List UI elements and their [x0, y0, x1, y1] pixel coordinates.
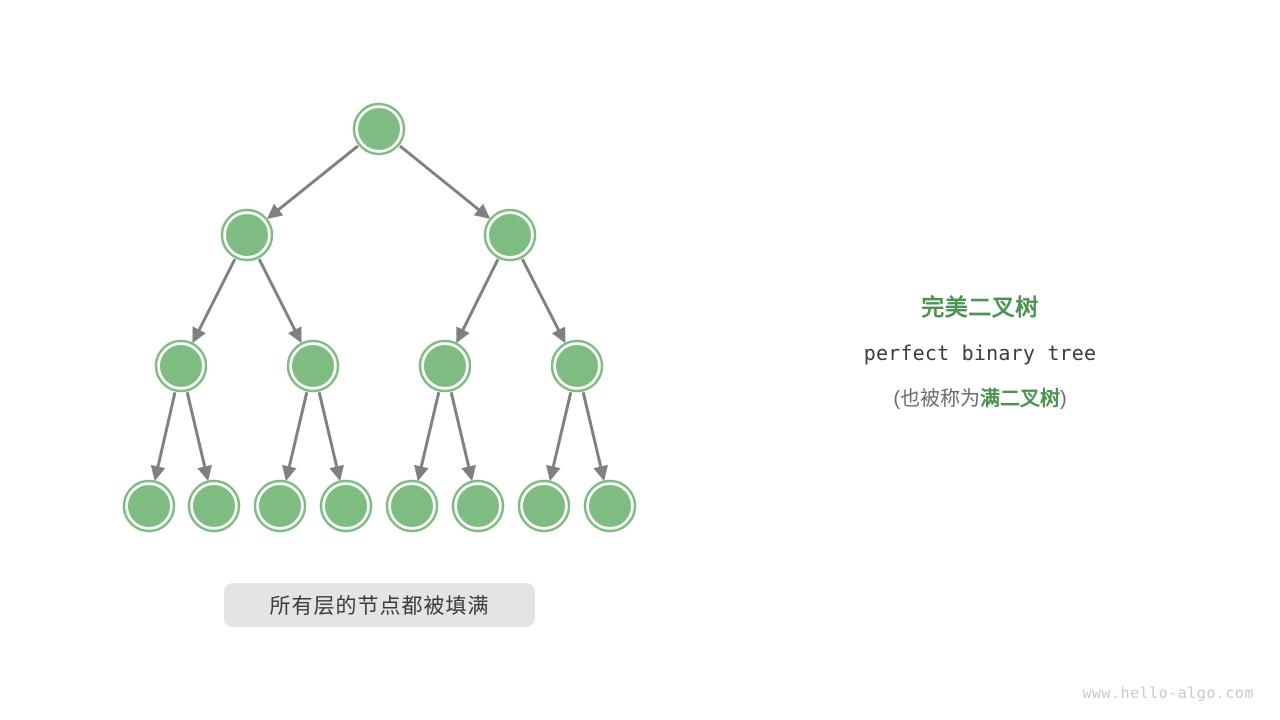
tree-edge — [187, 392, 207, 478]
tree-node-core — [456, 484, 500, 528]
tree-edge — [155, 392, 175, 478]
caption-badge: 所有层的节点都被填满 — [224, 583, 535, 627]
tree-node-core — [159, 344, 203, 388]
tree-node-core — [127, 484, 171, 528]
watermark-label: www.hello-algo.com — [1082, 684, 1254, 702]
tree-node-core — [522, 484, 566, 528]
tree-node[interactable] — [354, 104, 404, 154]
tree-node[interactable] — [222, 210, 272, 260]
legend-note: (也被称为满二叉树) — [790, 384, 1170, 414]
tree-node[interactable] — [387, 481, 437, 531]
tree-edge — [451, 392, 471, 478]
legend-note-suffix: ) — [1060, 388, 1067, 410]
tree-node[interactable] — [485, 210, 535, 260]
tree-edge-layer — [155, 146, 603, 479]
tree-node[interactable] — [156, 341, 206, 391]
legend-block: 完美二叉树 perfect binary tree (也被称为满二叉树) — [790, 292, 1170, 414]
tree-node[interactable] — [552, 341, 602, 391]
tree-node-core — [192, 484, 236, 528]
tree-node-core — [357, 107, 401, 151]
tree-edge — [522, 259, 564, 341]
tree-node-core — [390, 484, 434, 528]
tree-edge — [286, 392, 306, 478]
tree-node-core — [225, 213, 269, 257]
tree-node-core — [555, 344, 599, 388]
tree-node[interactable] — [255, 481, 305, 531]
tree-node[interactable] — [189, 481, 239, 531]
tree-node[interactable] — [519, 481, 569, 531]
caption-label: 所有层的节点都被填满 — [270, 590, 490, 620]
tree-node[interactable] — [420, 341, 470, 391]
legend-title: 完美二叉树 — [790, 292, 1170, 322]
tree-edge — [418, 392, 438, 478]
tree-edge — [400, 146, 488, 217]
tree-edge — [259, 259, 300, 341]
legend-note-accent: 满二叉树 — [980, 388, 1060, 410]
tree-node[interactable] — [453, 481, 503, 531]
tree-edge — [457, 259, 498, 341]
tree-node[interactable] — [321, 481, 371, 531]
tree-node-core — [423, 344, 467, 388]
legend-note-prefix: (也被称为 — [893, 388, 980, 410]
tree-node-core — [291, 344, 335, 388]
tree-edge — [583, 392, 603, 478]
tree-edge — [319, 392, 339, 478]
tree-node-core — [324, 484, 368, 528]
legend-subtitle: perfect binary tree — [790, 338, 1170, 368]
tree-edge — [194, 259, 235, 341]
tree-node-layer — [124, 104, 635, 531]
tree-node[interactable] — [288, 341, 338, 391]
tree-edge — [550, 392, 570, 478]
tree-node[interactable] — [124, 481, 174, 531]
tree-node-core — [488, 213, 532, 257]
tree-node-core — [588, 484, 632, 528]
tree-edge — [269, 146, 358, 218]
tree-node-core — [258, 484, 302, 528]
tree-node[interactable] — [585, 481, 635, 531]
